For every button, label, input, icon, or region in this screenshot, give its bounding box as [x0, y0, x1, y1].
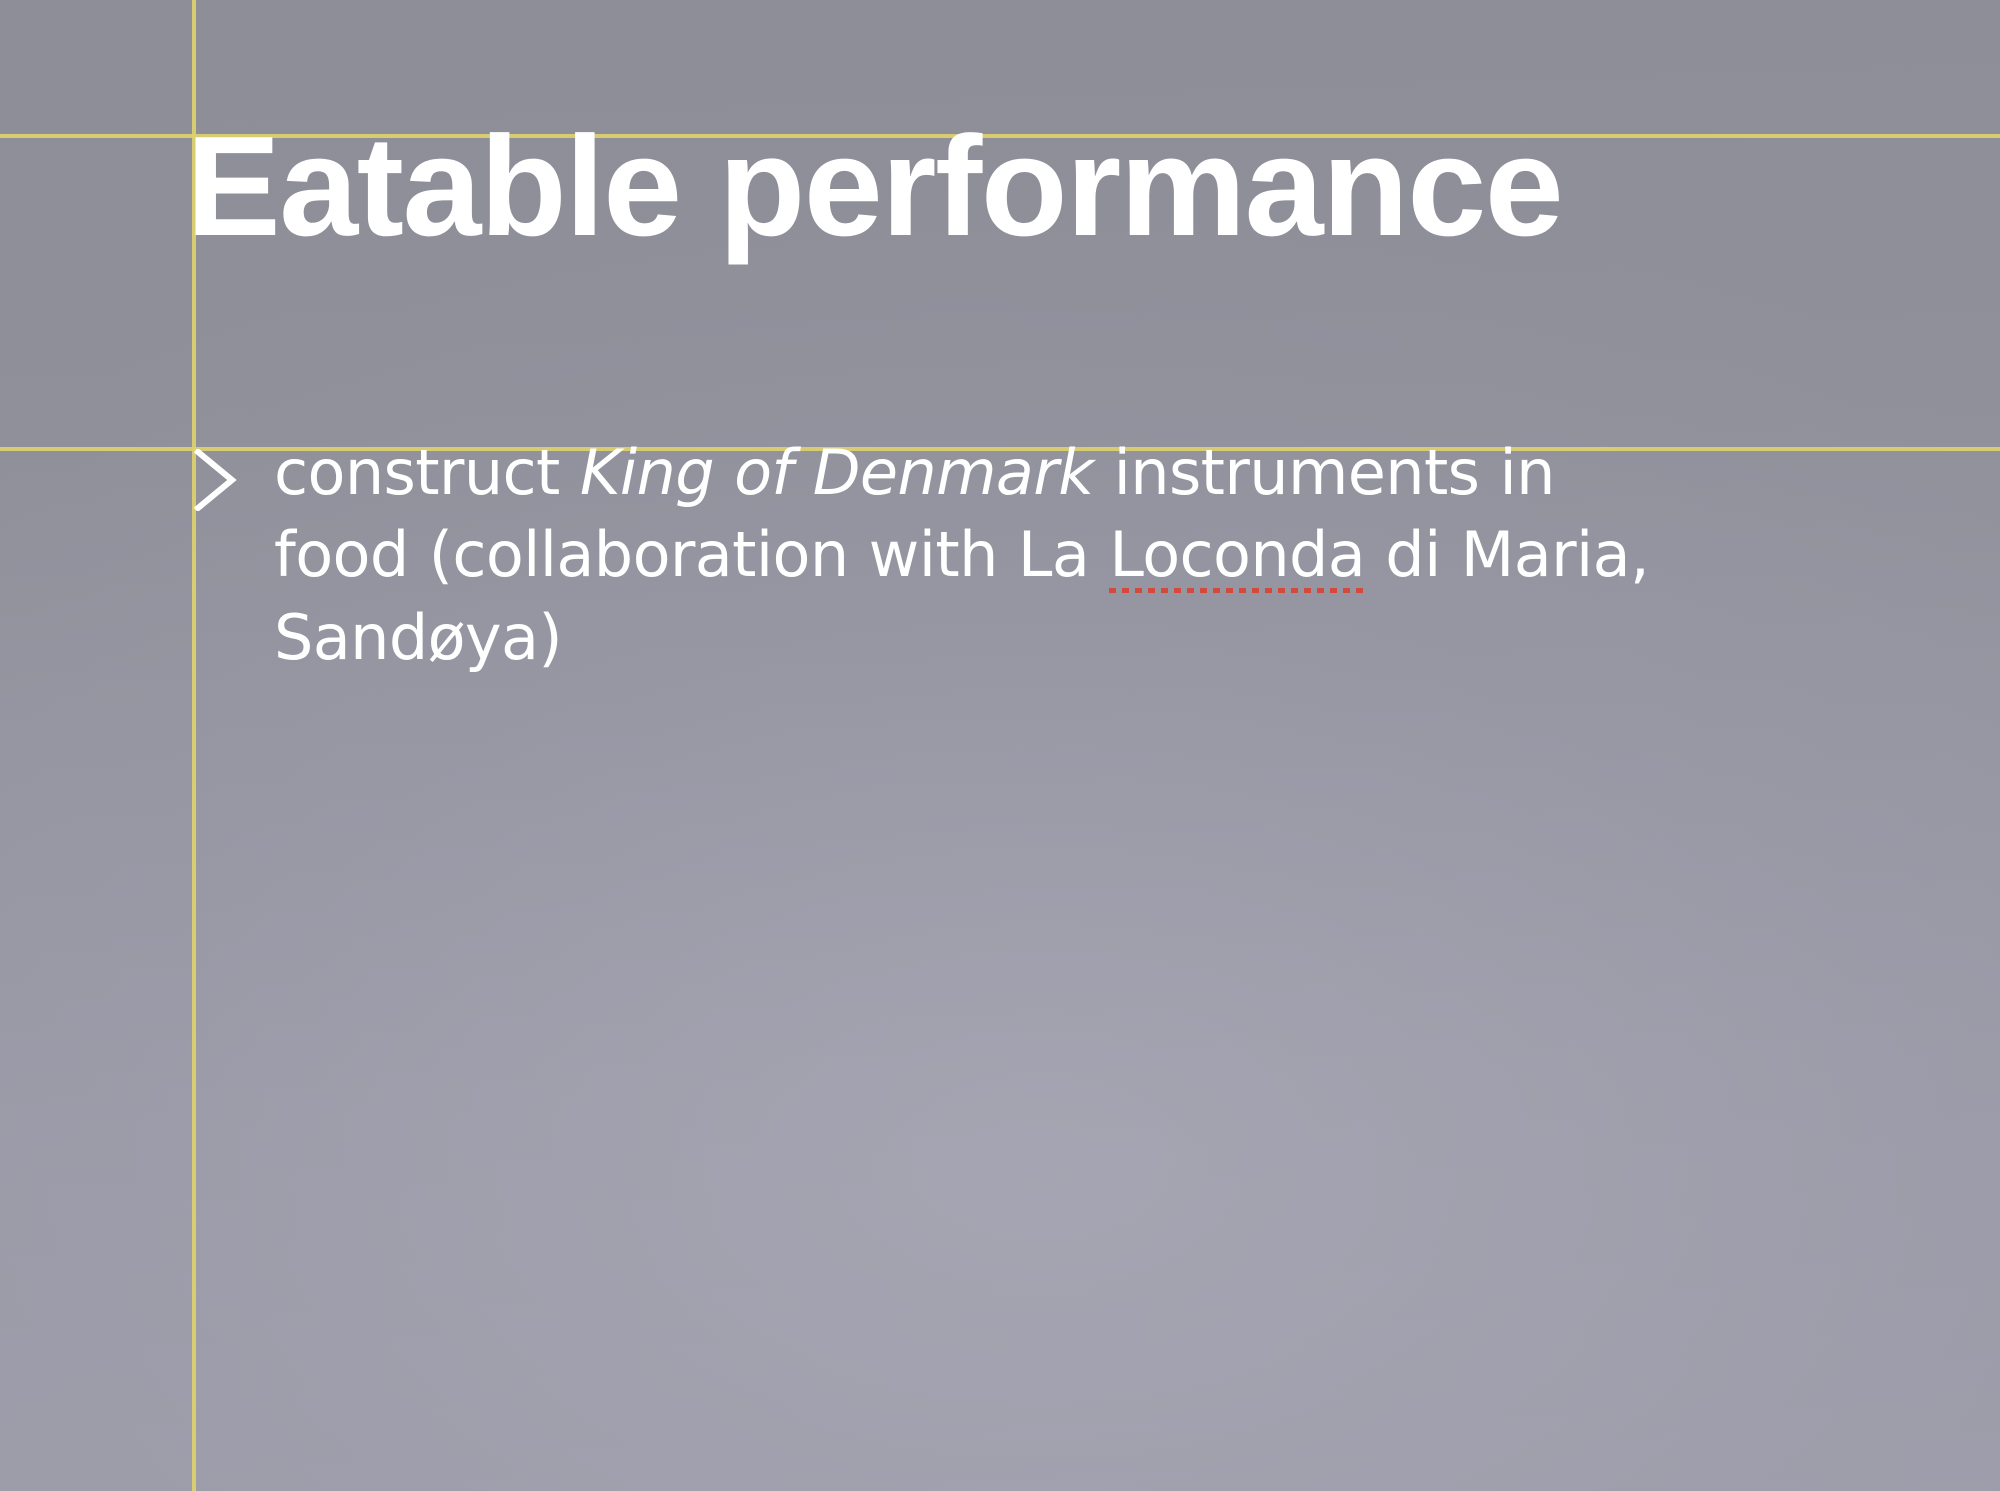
list-item[interactable]: construct King of Denmark instruments in… [188, 432, 1688, 679]
list-item-text: construct King of Denmark instruments in… [274, 432, 1688, 679]
presentation-slide: Eatable performance construct King of De… [0, 0, 2000, 1491]
segment-king-of-denmark-italic: King of Denmark [580, 436, 1094, 509]
segment-loconda-misspelled[interactable]: Loconda [1109, 514, 1365, 596]
bullet-list[interactable]: construct King of Denmark instruments in… [188, 432, 1688, 679]
chevron-right-bullet-icon [192, 449, 238, 511]
segment-construct: construct [274, 436, 580, 509]
slide-title[interactable]: Eatable performance [186, 116, 1996, 258]
